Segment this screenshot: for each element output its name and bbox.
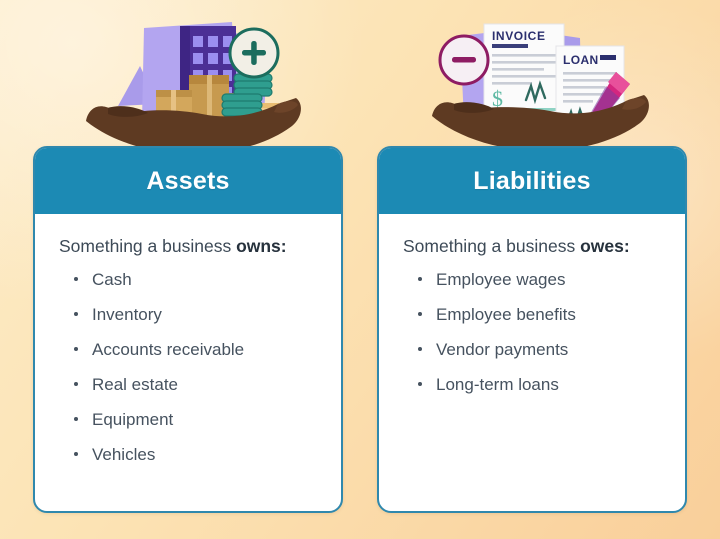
assets-list: Cash Inventory Accounts receivable Real … [59, 269, 321, 467]
assets-lead-prefix: Something a business [59, 236, 236, 256]
list-item: Inventory [71, 304, 321, 326]
liabilities-lead-prefix: Something a business [403, 236, 580, 256]
list-item: Employee benefits [415, 304, 665, 326]
list-item: Vendor payments [415, 339, 665, 361]
assets-card-body: Something a business owns: Cash Inventor… [35, 214, 341, 466]
liabilities-card: Liabilities Something a business owes: E… [377, 146, 687, 513]
assets-lead-bold: owns: [236, 236, 287, 256]
liabilities-card-body: Something a business owes: Employee wage… [379, 214, 685, 396]
liabilities-list: Employee wages Employee benefits Vendor … [403, 269, 665, 396]
list-item: Accounts receivable [71, 339, 321, 361]
liabilities-card-header: Liabilities [379, 148, 685, 214]
assets-card-title: Assets [146, 167, 229, 196]
list-item: Cash [71, 269, 321, 291]
liabilities-lead-bold: owes: [580, 236, 630, 256]
liabilities-card-title: Liabilities [473, 167, 591, 196]
svg-text:LOAN: LOAN [563, 53, 599, 67]
list-item: Long-term loans [415, 374, 665, 396]
list-item: Employee wages [415, 269, 665, 291]
assets-card-header: Assets [35, 148, 341, 214]
list-item: Vehicles [71, 444, 321, 466]
infographic-canvas: INVOICE $ LOAN [0, 0, 720, 539]
assets-lead-text: Something a business owns: [59, 236, 321, 258]
liabilities-lead-text: Something a business owes: [403, 236, 665, 258]
assets-card: Assets Something a business owns: Cash I… [33, 146, 343, 513]
svg-text:INVOICE: INVOICE [492, 29, 546, 43]
minus-circle-icon [440, 36, 488, 84]
plus-circle-icon [230, 29, 278, 77]
list-item: Real estate [71, 374, 321, 396]
hand-holding-assets-illustration [82, 8, 312, 158]
list-item: Equipment [71, 409, 321, 431]
hand-holding-liabilities-illustration: INVOICE $ LOAN [430, 8, 660, 158]
